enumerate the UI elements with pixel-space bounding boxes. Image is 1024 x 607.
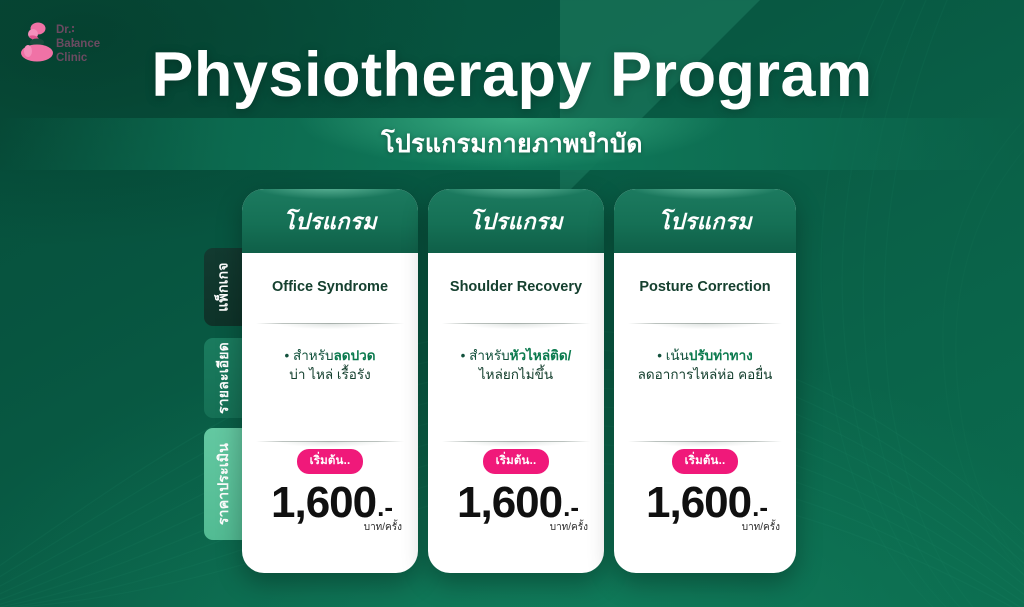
card-divider [428,321,604,327]
price-dash: .- [563,494,579,520]
card-price-block: เริ่มต้น.. 1,600 .- บาท/ครั้ง [428,445,604,573]
row-label-details[interactable]: รายละเอียด [204,338,244,418]
row-label-price-text: ราคาประเมิน [213,443,235,525]
desc-line2: บ่า ไหล่ เรื้อรัง [254,366,406,384]
subtitle-band: โปรแกรมกายภาพบำบัด [0,118,1024,170]
starting-from-badge: เริ่มต้น.. [483,449,550,474]
starting-from-badge: เริ่มต้น.. [672,449,739,474]
card-header: โปรแกรม [614,189,796,253]
page-subtitle: โปรแกรมกายภาพบำบัด [381,124,643,164]
card-description: • สำหรับหัวไหล่ติด/ ไหล่ยกไม่ขึ้น [428,327,604,439]
card-divider [614,321,796,327]
bullet-icon: • [284,348,289,363]
card-header-label: โปรแกรม [469,204,563,239]
price-unit: บาท/ครั้ง [428,520,604,535]
desc-highlight: ลดปวด [334,348,376,363]
program-card[interactable]: โปรแกรม Shoulder Recovery • สำหรับหัวไหล… [428,189,604,573]
price-amount: 1,600 [457,482,562,524]
program-card[interactable]: โปรแกรม Posture Correction • เน้นปรับท่า… [614,189,796,573]
card-header: โปรแกรม [242,189,418,253]
row-label-package[interactable]: แพ็กเกจ [204,248,244,326]
card-description: • เน้นปรับท่าทาง ลดอาการไหล่ห่อ คอยื่น [614,327,796,439]
card-price-block: เริ่มต้น.. 1,600 .- บาท/ครั้ง [242,445,418,573]
card-description: • สำหรับลดปวด บ่า ไหล่ เรื้อรัง [242,327,418,439]
price-dash: .- [377,494,393,520]
starting-from-badge: เริ่มต้น.. [297,449,364,474]
desc-highlight: หัวไหล่ติด/ [510,348,572,363]
row-label-details-text: รายละเอียด [213,342,235,414]
price-unit: บาท/ครั้ง [614,520,796,535]
row-label-price[interactable]: ราคาประเมิน [204,428,244,540]
desc-prefix: เน้น [666,348,689,363]
card-header-label: โปรแกรม [658,204,752,239]
desc-line2: ลดอาการไหล่ห่อ คอยื่น [626,366,784,384]
price-amount: 1,600 [271,482,376,524]
card-title: Office Syndrome [242,253,418,321]
bullet-icon: • [657,348,662,363]
card-divider [242,321,418,327]
desc-highlight: ปรับท่าทาง [689,348,753,363]
program-card[interactable]: โปรแกรม Office Syndrome • สำหรับลดปวด บ่… [242,189,418,573]
price-dash: .- [752,494,768,520]
price-amount: 1,600 [646,482,751,524]
card-header-label: โปรแกรม [283,204,377,239]
desc-line2: ไหล่ยกไม่ขึ้น [440,366,592,384]
row-label-package-text: แพ็กเกจ [213,262,235,311]
desc-prefix: สำหรับ [293,348,334,363]
poster-canvas: Dr. Balance Clinic Physiotherapy Program… [0,0,1024,607]
desc-prefix: สำหรับ [469,348,510,363]
card-header: โปรแกรม [428,189,604,253]
card-title: Shoulder Recovery [428,253,604,321]
logo-text-dr: Dr. [56,24,71,36]
bullet-icon: • [461,348,466,363]
page-title: Physiotherapy Program [0,44,1024,107]
price-unit: บาท/ครั้ง [242,520,418,535]
card-title: Posture Correction [614,253,796,321]
card-price-block: เริ่มต้น.. 1,600 .- บาท/ครั้ง [614,445,796,573]
